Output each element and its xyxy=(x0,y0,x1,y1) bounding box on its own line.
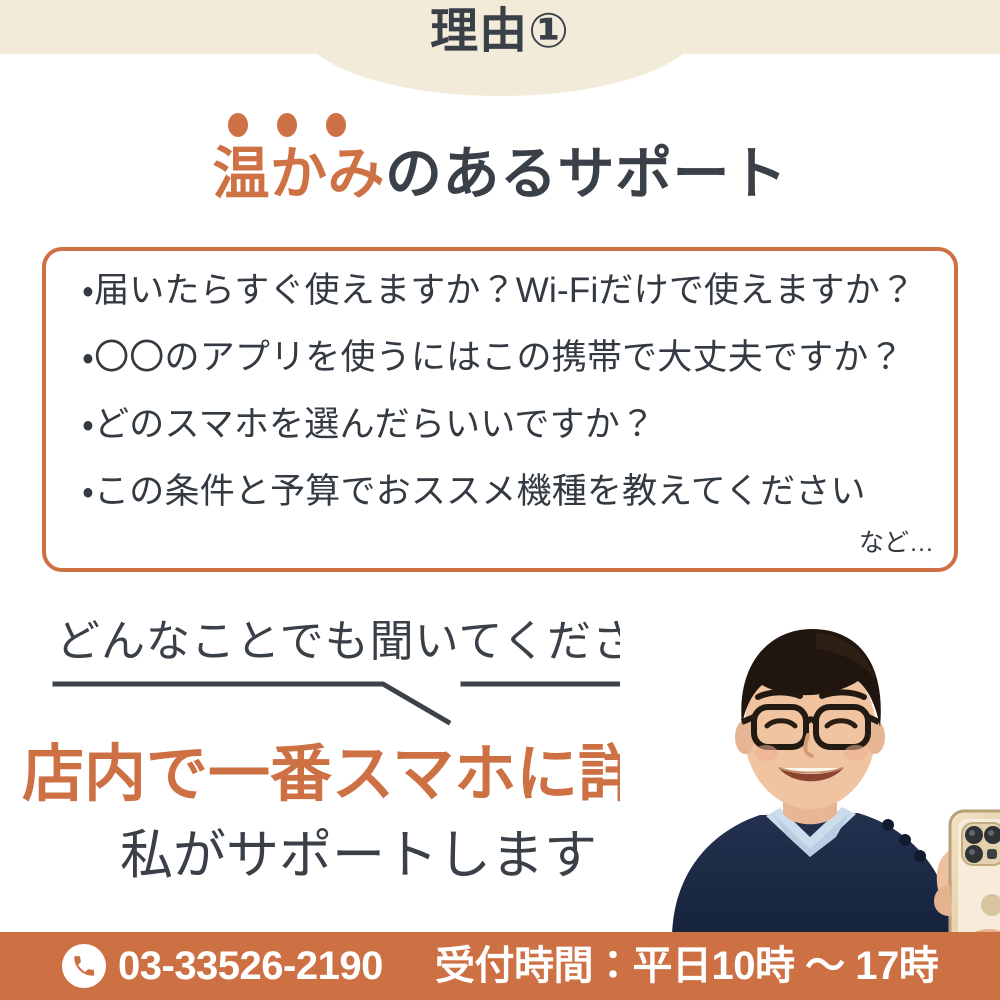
list-item: ・この条件と予算でおススメ機種を教えてください xyxy=(82,474,938,509)
subtitle-rest: のあるサポート xyxy=(385,142,788,206)
emphasis-dot xyxy=(326,113,346,137)
staff-photo xyxy=(620,585,1000,935)
promo-graphic: 理由① 温かみのあるサポート ・届いたらすぐ使えますか？Wi-Fiだけで使えます… xyxy=(0,0,1000,1000)
page-title: 理由① xyxy=(0,6,1000,59)
emphasis-dot xyxy=(277,113,297,137)
subtitle: 温かみのあるサポート xyxy=(0,142,1000,208)
business-hours: 受付時間：平日10時 〜 17時 xyxy=(435,946,938,986)
etcetera-label: など… xyxy=(859,523,934,559)
headline-secondary: 私がサポートします！ xyxy=(120,828,650,884)
phone-icon[interactable] xyxy=(62,944,106,988)
staff-photo-illustration xyxy=(620,585,1000,935)
question-box: ・届いたらすぐ使えますか？Wi-Fiだけで使えますか？ ・〇〇のアプリを使うには… xyxy=(42,247,958,572)
speech-bubble-underline-icon xyxy=(48,672,658,730)
list-item: ・〇〇のアプリを使うにはこの携帯で大丈夫ですか？ xyxy=(82,340,938,375)
footer-bar: 03-33526-2190 受付時間：平日10時 〜 17時 xyxy=(0,932,1000,1000)
phone-number[interactable]: 03-33526-2190 xyxy=(118,946,383,986)
emphasis-dot xyxy=(228,113,248,137)
question-list: ・届いたらすぐ使えますか？Wi-Fiだけで使えますか？ ・〇〇のアプリを使うには… xyxy=(82,273,938,509)
list-item: ・どのスマホを選んだらいいですか？ xyxy=(82,407,938,442)
phone-handset-glyph xyxy=(71,953,97,979)
subtitle-highlight: 温かみ xyxy=(213,142,386,206)
list-item: ・届いたらすぐ使えますか？Wi-Fiだけで使えますか？ xyxy=(82,273,938,308)
emphasis-dots xyxy=(228,112,346,138)
